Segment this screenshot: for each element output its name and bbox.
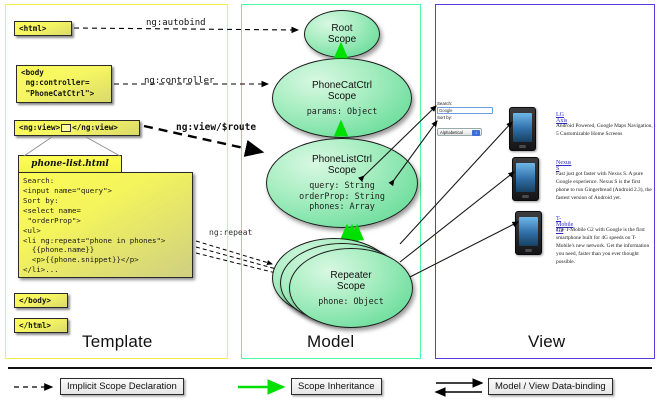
scope-phonelistctrl: PhoneListCtrlScope query: StringorderPro…	[266, 138, 418, 228]
search-form: Search: Google Sort by: Alphabetical↕	[437, 101, 493, 139]
scope-root-name: RootScope	[328, 23, 356, 45]
phone-home-button	[519, 145, 526, 148]
phone-screen	[516, 163, 535, 192]
scope-repeater-props: phone: Object	[318, 296, 384, 307]
phone-snippet: The T-Mobile G2 with Google is the first…	[556, 226, 654, 267]
scope-phonelistctrl-name: PhoneListCtrlScope	[312, 154, 372, 176]
code-box-html-close: </html>	[14, 318, 68, 333]
search-input[interactable]: Google	[437, 107, 493, 114]
legend-icon-binding-arrow	[436, 383, 482, 392]
code-box-ngview: <ng:view></ng:view>	[14, 120, 140, 136]
note-code-phone-list: Search: <input name="query"> Sort by: <s…	[18, 172, 193, 278]
phone-screen	[519, 217, 538, 246]
connector-label-ng-autobind: ng:autobind	[146, 18, 206, 28]
ngview-close-tag: </ng:view>	[72, 123, 118, 132]
phone-snippet: Fast just got faster with Nexus S. A pur…	[556, 170, 654, 202]
legend-divider	[8, 367, 652, 369]
ngview-slot-icon	[61, 124, 71, 132]
phone-home-button	[522, 195, 529, 198]
connector-label-ng-repeat: ng:repeat	[209, 228, 252, 237]
code-box-body-close: </body>	[14, 293, 68, 308]
sort-select[interactable]: Alphabetical↕	[437, 128, 482, 136]
code-box-body-open: <body ng:controller= "PhoneCatCtrl">	[16, 65, 112, 103]
sort-select-value: Alphabetical	[440, 130, 463, 135]
ngview-open-tag: <ng:view>	[19, 123, 60, 132]
legend-label-implicit: Implicit Scope Declaration	[60, 378, 184, 395]
code-box-html-open: <html>	[14, 21, 72, 36]
legend-label-inheritance: Scope Inheritance	[291, 378, 382, 395]
panel-label-template: Template	[82, 332, 153, 352]
scope-repeater-name: RepeaterScope	[330, 270, 371, 292]
phone-screen	[513, 113, 532, 142]
scope-repeater: RepeaterScope phone: Object	[289, 248, 413, 328]
scope-phonecatctrl-props: params: Object	[307, 106, 378, 117]
scope-phonecatctrl-name: PhoneCatCtrlScope	[312, 80, 372, 102]
sort-label: Sort by:	[437, 115, 493, 121]
scope-phonecatctrl: PhoneCatCtrlScope params: Object	[272, 58, 412, 138]
phone-snippet: Android Powered, Google Maps Navigation,…	[556, 122, 654, 138]
note-title-phone-list: phone-list.html	[18, 155, 122, 172]
connector-label-ng-view-route: ng:view/$route	[176, 122, 256, 133]
legend-label-binding: Model / View Data-binding	[488, 378, 613, 395]
phone-thumbnail	[515, 211, 542, 255]
panel-label-view: View	[528, 332, 565, 352]
scope-root: RootScope	[304, 10, 380, 58]
diagram-root: Template Model View <html> <body ng:cont…	[0, 0, 660, 405]
panel-label-model: Model	[307, 332, 354, 352]
phone-thumbnail	[509, 107, 536, 151]
phone-home-button	[525, 249, 532, 252]
chevron-updown-icon: ↕	[472, 130, 480, 136]
connector-label-ng-controller: ng:controller	[144, 76, 214, 86]
scope-phonelistctrl-props: query: StringorderProp: Stringphones: Ar…	[299, 180, 385, 212]
phone-thumbnail	[512, 157, 539, 201]
